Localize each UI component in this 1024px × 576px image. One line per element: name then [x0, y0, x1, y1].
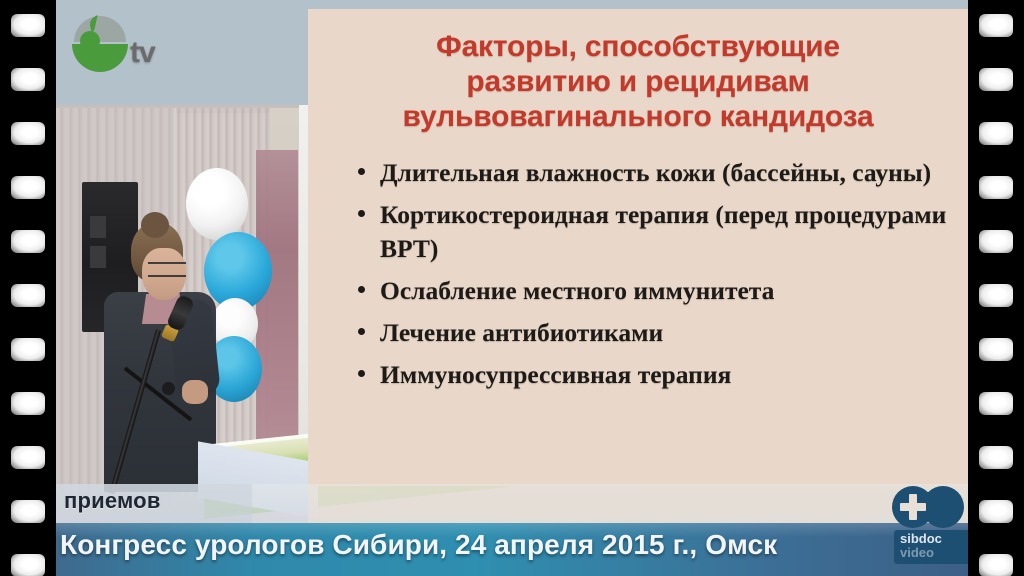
eyeglasses [148, 262, 186, 277]
broadcaster-logo-text: tv [130, 36, 155, 70]
film-perforation [11, 446, 45, 469]
bullet-text: Длительная влажность кожи (бассейны, сау… [380, 158, 931, 187]
film-perforation [11, 392, 45, 415]
speaker-hand [182, 380, 208, 404]
slide-title-line-3: вульвовагинального кандидоза [326, 99, 950, 134]
sibdoc-video-watermark: sibdoc video [892, 486, 968, 564]
bullet-text: Ослабление местного иммунитета [380, 276, 774, 305]
list-item: Ослабление местного иммунитета [358, 274, 954, 307]
olive-leaf-icon [68, 14, 132, 76]
film-perforation [11, 230, 45, 253]
slide-title: Факторы, способствующие развитию и рецид… [326, 29, 950, 134]
film-perforation [979, 338, 1013, 361]
film-perforation [979, 122, 1013, 145]
list-item: Кортикостероидная терапия (перед процеду… [358, 198, 954, 264]
list-item: Иммуносупрессивная терапия [358, 358, 954, 391]
bullet-text: Кортикостероидная терапия (перед процеду… [380, 200, 946, 262]
watermark-line-2: video [900, 546, 968, 560]
slide-title-line-2: развитию и рецидивам [326, 64, 950, 99]
list-item: Лечение антибиотиками [358, 316, 954, 349]
film-perforation [11, 284, 45, 307]
film-perforation [979, 500, 1013, 523]
film-perforation [11, 500, 45, 523]
slide-title-line-1: Факторы, способствующие [326, 29, 950, 64]
bullet-dot-icon [358, 210, 365, 217]
film-perforation [11, 14, 45, 37]
medical-cross-icon [892, 486, 968, 530]
film-perforation [11, 338, 45, 361]
microphone-joint [162, 382, 175, 395]
event-title-text: Конгресс урологов Сибири, 24 апреля 2015… [60, 529, 950, 561]
broadcaster-logo: tv [68, 14, 190, 82]
watermark-line-1: sibdoc [900, 532, 968, 546]
film-perforation [979, 392, 1013, 415]
film-perforation [979, 14, 1013, 37]
caption-band-shade-right [308, 484, 968, 523]
video-frame: tv Факторы, способствующие развитию и ре… [0, 0, 1024, 576]
slide-bullet-list: Длительная влажность кожи (бассейны, сау… [308, 156, 968, 391]
bullet-text: Лечение антибиотиками [380, 318, 663, 347]
film-perforation [979, 446, 1013, 469]
bullet-dot-icon [358, 286, 365, 293]
bullet-text: Иммуносупрессивная терапия [380, 360, 731, 389]
film-perforation [979, 284, 1013, 307]
caption-band: приемов [56, 484, 968, 523]
film-perforation [979, 554, 1013, 576]
film-perforation [11, 554, 45, 576]
film-strip-left [0, 0, 56, 576]
list-item: Длительная влажность кожи (бассейны, сау… [358, 156, 954, 189]
film-perforation [979, 68, 1013, 91]
bullet-dot-icon [358, 328, 365, 335]
event-title-bar: Конгресс урологов Сибири, 24 апреля 2015… [56, 523, 968, 576]
bullet-dot-icon [358, 370, 365, 377]
bullet-dot-icon [358, 168, 365, 175]
film-perforation [11, 122, 45, 145]
speaker-hair-bun [141, 212, 169, 238]
video-content-area: tv Факторы, способствующие развитию и ре… [56, 0, 968, 576]
cross-vertical [909, 494, 917, 520]
film-strip-right [968, 0, 1024, 576]
film-perforation [11, 176, 45, 199]
caption-text: приемов [64, 488, 161, 514]
film-perforation [979, 230, 1013, 253]
curtain-red [256, 150, 298, 480]
film-perforation [979, 176, 1013, 199]
watermark-plate: sibdoc video [894, 530, 968, 564]
presentation-slide: Факторы, способствующие развитию и рецид… [308, 9, 968, 486]
balloon-white-upper [186, 168, 248, 240]
film-perforation [11, 68, 45, 91]
